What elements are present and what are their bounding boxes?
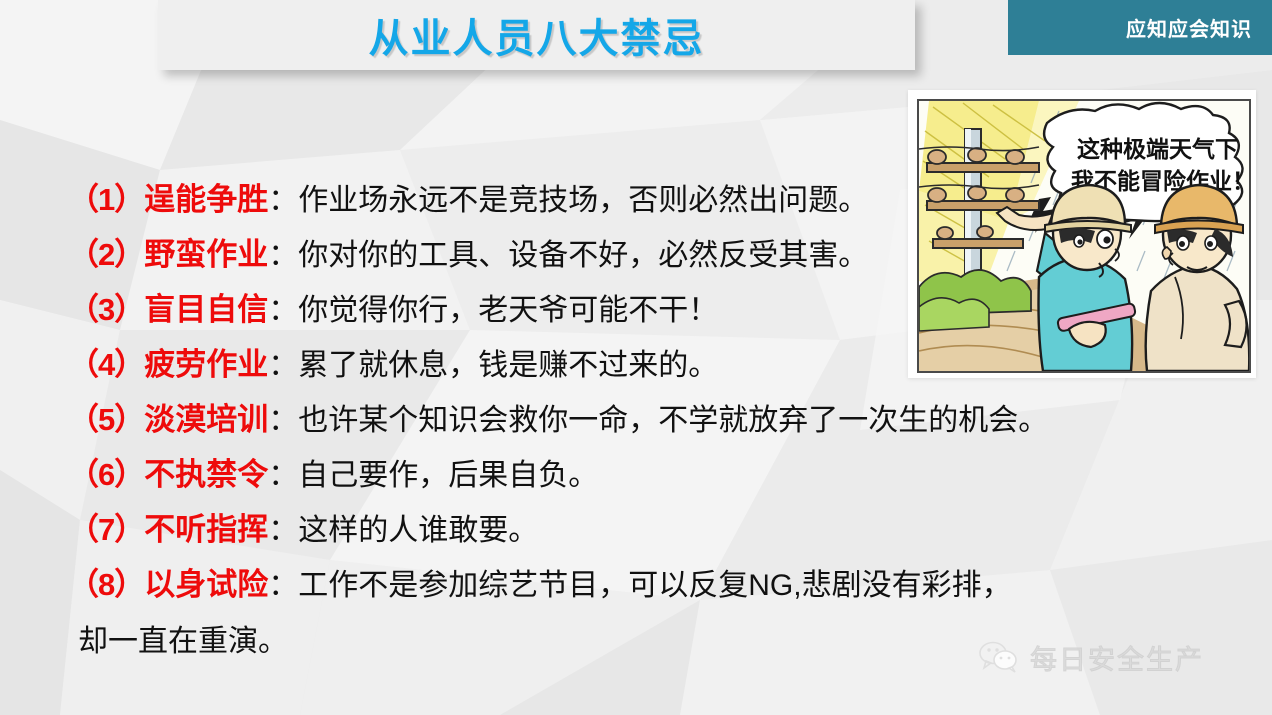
list-item-continuation: 却一直在重演。 (78, 616, 288, 660)
list-item-headword: 野蛮作业 (144, 237, 268, 272)
list-item: （6）不执禁令：自己要作，后果自负。 (68, 447, 1188, 502)
list-item-body: 你对你的工具、设备不好，必然反受其害。 (298, 239, 868, 272)
corner-badge-label: 应知应会知识 (1126, 13, 1252, 42)
list-item: （7）不听指挥：这样的人谁敢要。 (68, 502, 1188, 557)
list-item-headword: 不听指挥 (144, 512, 268, 547)
list-item-colon: ： (268, 239, 298, 272)
list-item: （5）淡漠培训：也许某个知识会救你一命，不学就放弃了一次生的机会。 (68, 392, 1188, 447)
list-item-body: 这样的人谁敢要。 (298, 514, 538, 547)
list-item-colon: ： (268, 294, 298, 327)
list-item: （8）以身试险：工作不是参加综艺节目，可以反复NG,悲剧没有彩排， (68, 557, 1188, 612)
list-item-headword: 盲目自信 (144, 292, 268, 327)
wechat-icon (978, 641, 1020, 673)
list-item-colon: ： (268, 349, 298, 382)
list-item-body: 自己要作，后果自负。 (298, 459, 598, 492)
list-item-number: （6） (68, 457, 144, 492)
list-item-number: （8） (68, 567, 144, 602)
list-item-headword: 不执禁令 (144, 457, 268, 492)
watermark-label: 每日安全生产 (1030, 638, 1204, 677)
list-item-body: 作业场永远不是竞技场，否则必然出问题。 (298, 184, 868, 217)
page-title: 从业人员八大禁忌 (158, 6, 915, 64)
list-item-colon: ： (268, 184, 298, 217)
list-item-colon: ： (268, 569, 298, 602)
list-item-number: （7） (68, 512, 144, 547)
list-item-body: 你觉得你行，老天爷可能不干！ (298, 294, 718, 327)
list-item-number: （2） (68, 237, 144, 272)
corner-badge: 应知应会知识 (1008, 0, 1272, 55)
list-item-colon: ： (268, 459, 298, 492)
list-item-number: （1） (68, 182, 144, 217)
list-item-headword: 以身试险 (144, 567, 268, 602)
list-item-colon: ： (268, 404, 298, 437)
list-item-number: （3） (68, 292, 144, 327)
cartoon-scene: 这种极端天气下 我不能冒险作业！ (919, 101, 1249, 371)
list-item-body: 累了就休息，钱是赚不过来的。 (298, 349, 718, 382)
speech-line-1: 这种极端天气下 (1077, 136, 1238, 162)
list-item-body: 也许某个知识会救你一命，不学就放弃了一次生的机会。 (298, 404, 1048, 437)
watermark: 每日安全生产 (978, 637, 1204, 677)
title-banner: 从业人员八大禁忌 (158, 0, 915, 70)
cartoon-illustration: 这种极端天气下 我不能冒险作业！ (908, 90, 1256, 378)
list-item-number: （5） (68, 402, 144, 437)
cartoon-frame: 这种极端天气下 我不能冒险作业！ (917, 99, 1251, 373)
list-item-body: 工作不是参加综艺节目，可以反复NG,悲剧没有彩排， (298, 569, 1011, 602)
slide-canvas: 从业人员八大禁忌 应知应会知识 （1）逞能争胜：作业场永远不是竞技场，否则必然出… (0, 0, 1272, 715)
list-item-headword: 淡漠培训 (144, 402, 268, 437)
list-item-colon: ： (268, 514, 298, 547)
list-item-number: （4） (68, 347, 144, 382)
list-item-headword: 逞能争胜 (144, 182, 268, 217)
list-item-headword: 疲劳作业 (144, 347, 268, 382)
